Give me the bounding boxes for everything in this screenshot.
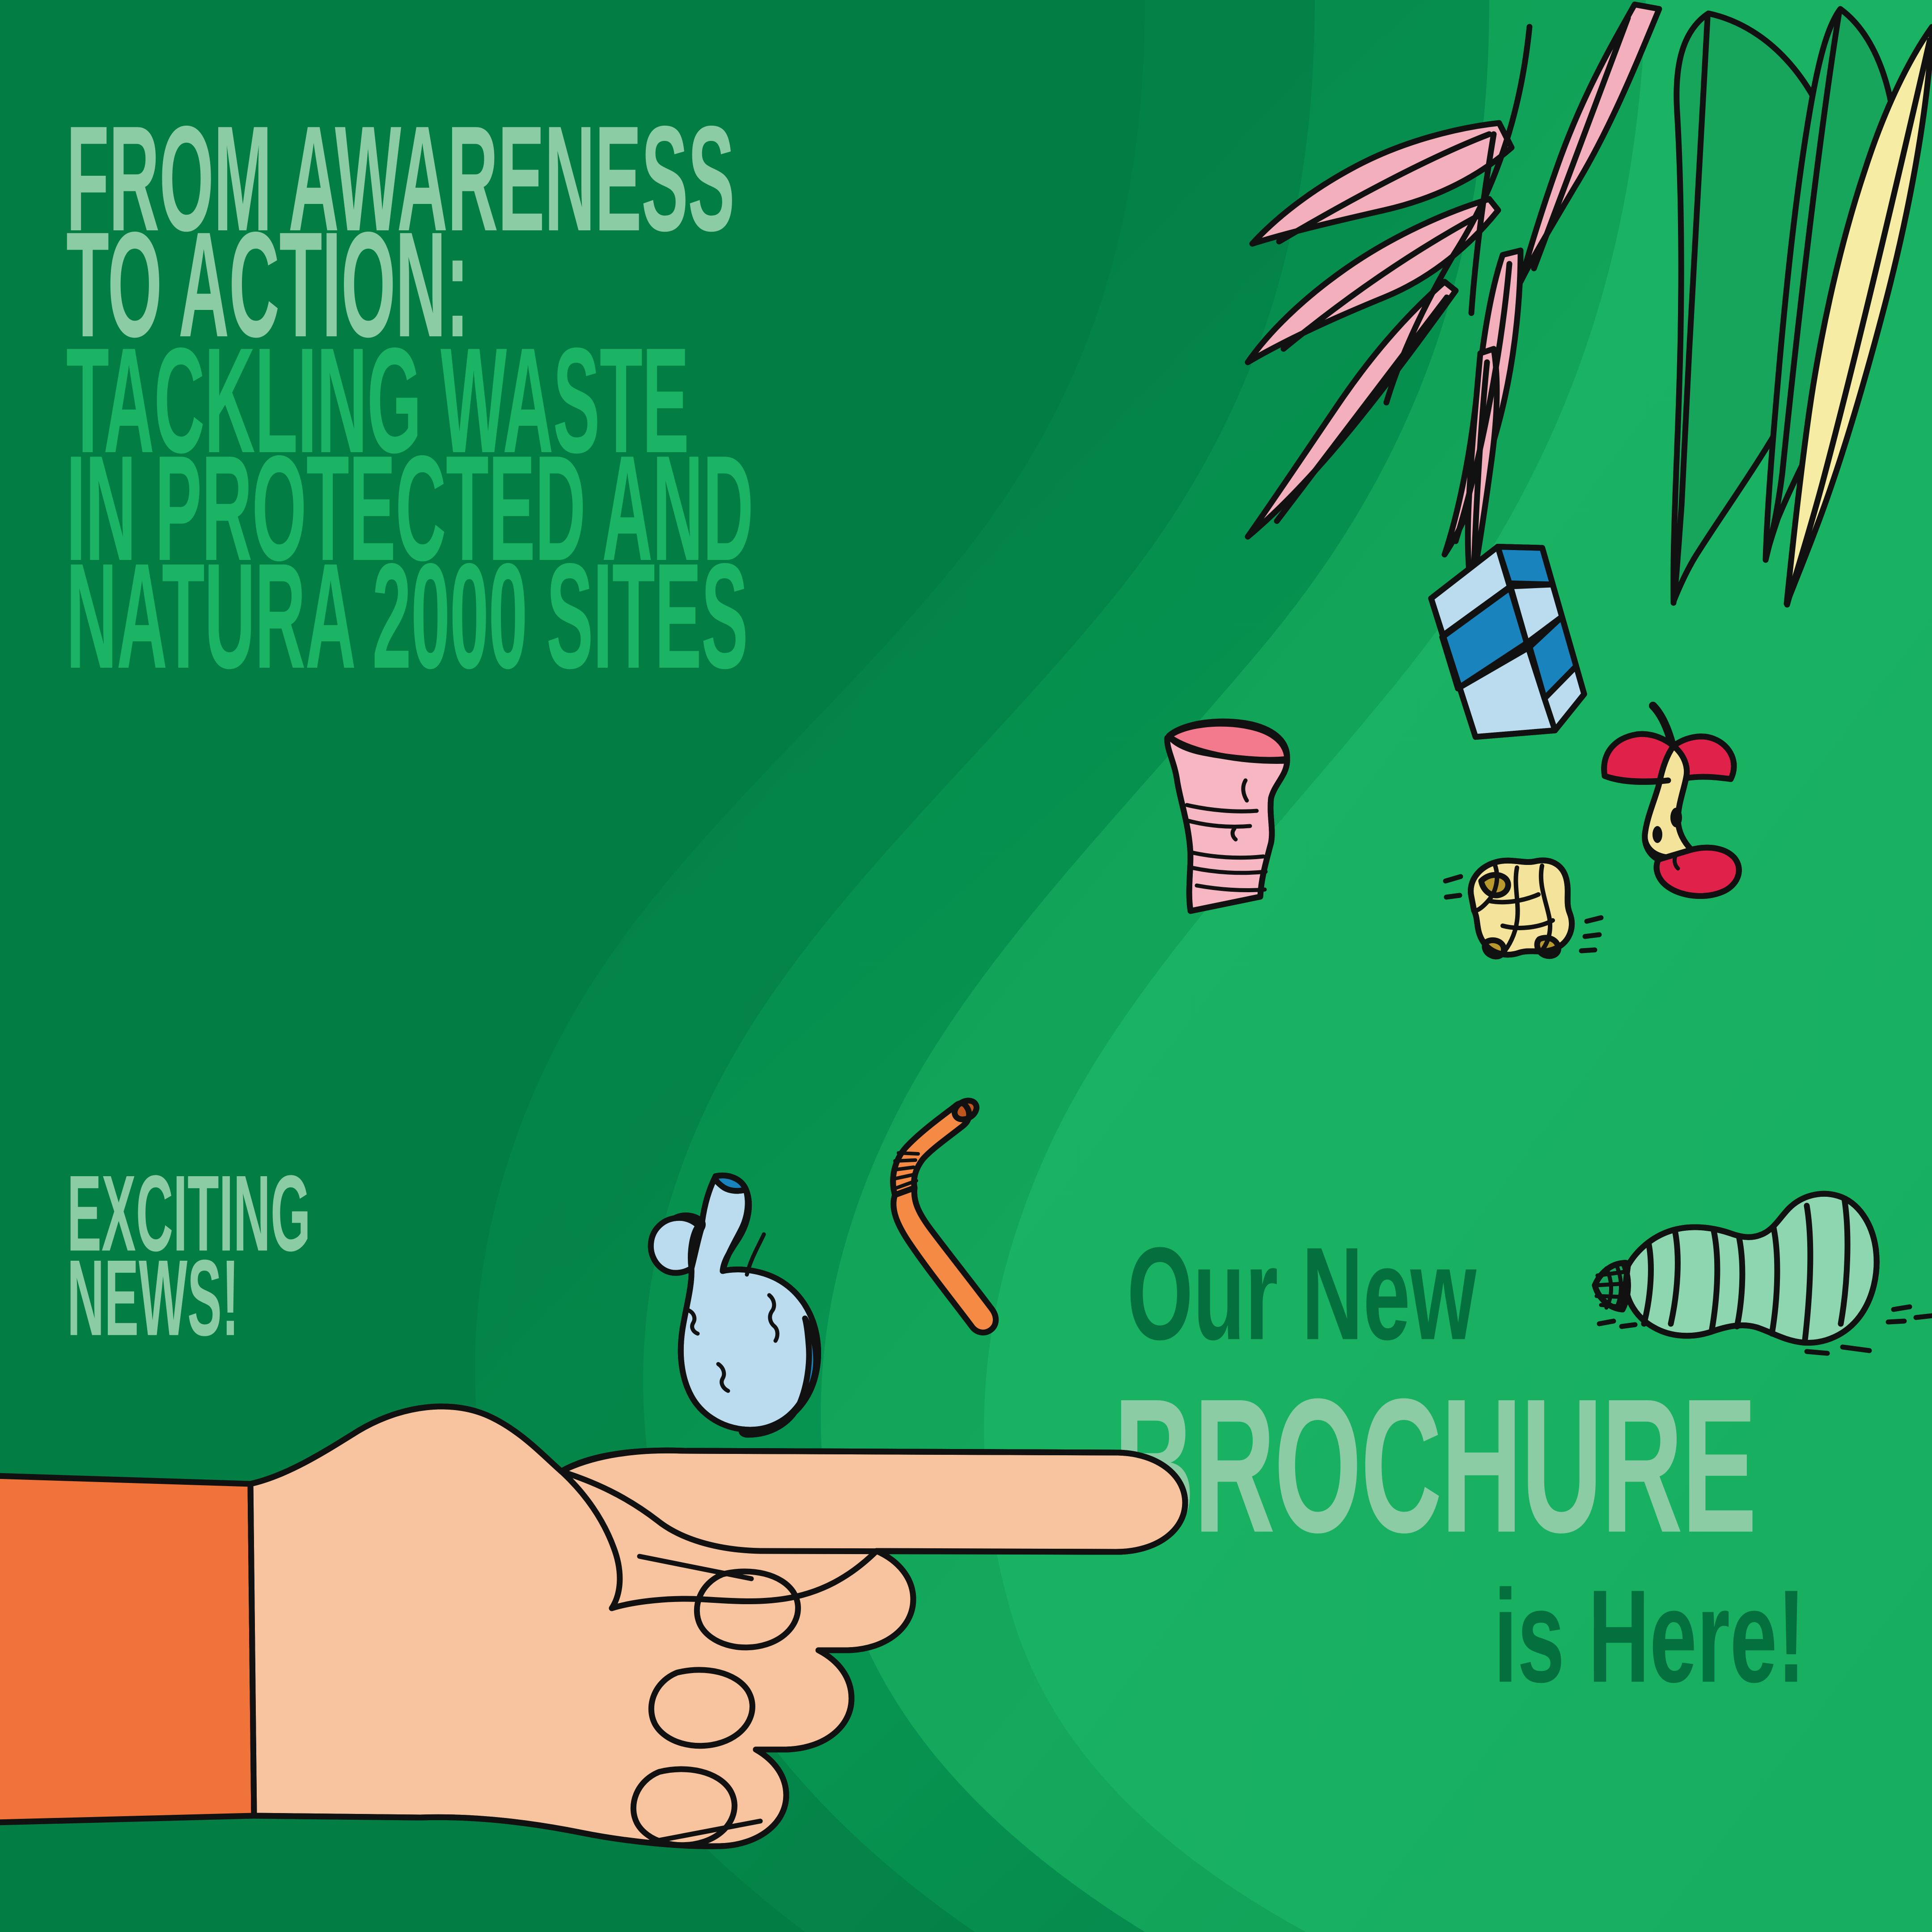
callout-brochure: BROCHURE [1114,1374,1932,1529]
page-title: FROM AWARENESS TO ACTION: TACKLING WASTE… [66,104,1211,664]
kicker-line-2: NEWS! [67,1253,311,1344]
callout-line-3: is Here! [1494,1581,1805,1692]
headline-line-5: NATURA 2000 SITES [66,553,753,679]
callout-line-2: BROCHURE [1114,1386,1756,1546]
kicker-text: EXCITING NEWS! [67,1157,460,1335]
callout-our-new: Our New [1127,1226,1587,1344]
poster-canvas: FROM AWARENESS TO ACTION: TACKLING WASTE… [0,0,1932,1932]
callout-is-here: is Here! [1494,1569,1904,1687]
callout-line-1: Our New [1127,1238,1476,1349]
